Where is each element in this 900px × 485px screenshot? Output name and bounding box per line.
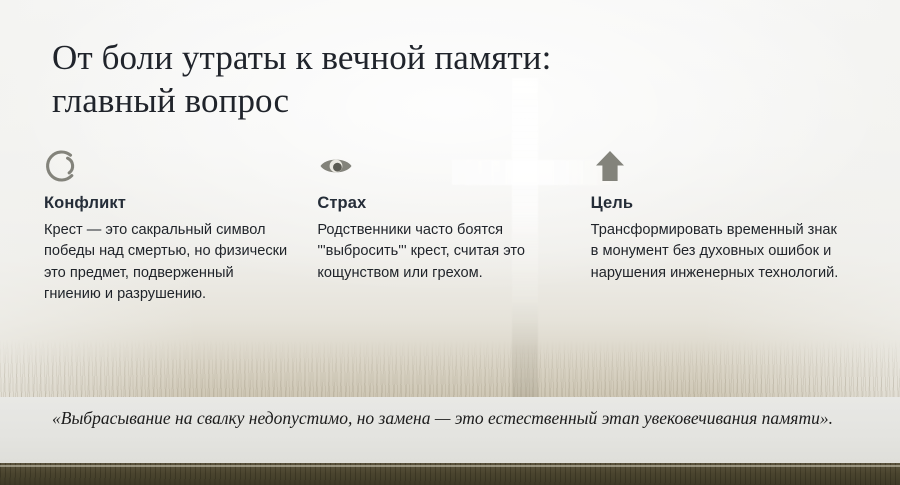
column-fear: Страх Родственники часто боятся '''выбро… [317, 142, 590, 305]
background-horizon-line [0, 465, 900, 467]
column-body-text: Крест — это сакральный символ победы над… [44, 220, 293, 305]
column-conflict: Конфликт Крест — это сакральный символ п… [44, 142, 317, 305]
column-heading: Конфликт [44, 194, 293, 213]
broken-circle-icon [44, 142, 293, 190]
column-body-text: Родственники часто боятся '''выбросить''… [317, 220, 566, 284]
slide: От боли утраты к вечной памяти: главный … [0, 0, 900, 485]
quote-banner: «Выбрасывание на свалку недопустимо, но … [0, 397, 900, 466]
slide-title: От боли утраты к вечной памяти: главный … [52, 36, 672, 122]
column-heading: Страх [317, 194, 566, 213]
column-heading: Цель [591, 194, 840, 213]
column-body-text: Трансформировать временный знак в монуме… [591, 220, 840, 284]
eye-icon [317, 142, 566, 190]
arrow-up-icon [591, 142, 840, 190]
columns-container: Конфликт Крест — это сакральный символ п… [44, 142, 864, 305]
quote-text: «Выбрасывание на свалку недопустимо, но … [52, 406, 862, 431]
column-goal: Цель Трансформировать временный знак в м… [591, 142, 864, 305]
